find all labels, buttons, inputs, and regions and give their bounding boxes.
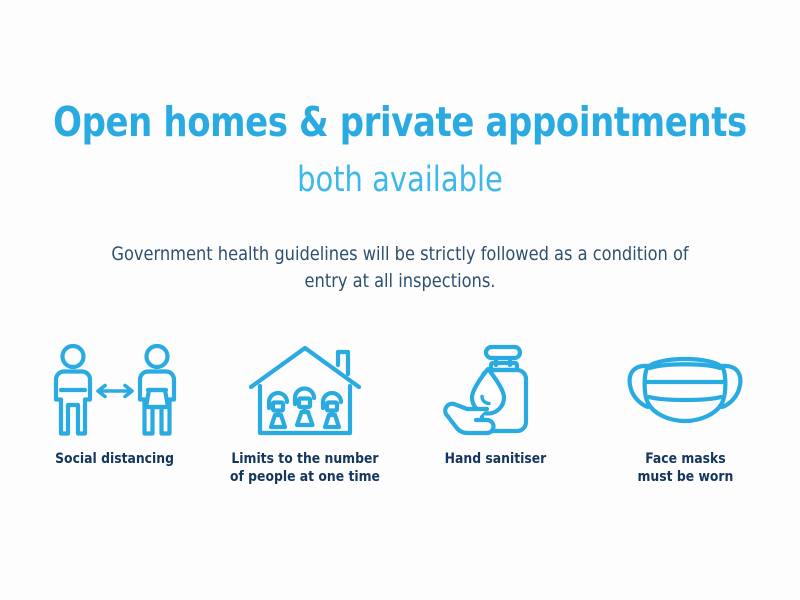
guideline-caption: Social distancing: [56, 450, 175, 468]
covid-safety-poster: Open homes & private appointments both a…: [0, 0, 800, 600]
guideline-caption: Hand sanitiser: [444, 450, 546, 468]
page-subtitle: both available: [32, 163, 768, 198]
headline-block: Open homes & private appointments both a…: [0, 102, 800, 198]
guideline-icon-row: Social distancing: [20, 341, 780, 487]
guideline-caption: Limits to the number of people at one ti…: [230, 450, 380, 487]
hand-sanitiser-icon: [440, 343, 550, 439]
house-occupancy-limit-icon: [246, 343, 364, 439]
page-title: Open homes & private appointments: [32, 102, 768, 144]
icon-art-wrapper: [246, 341, 364, 439]
guideline-item-hand-sanitiser: Hand sanitiser: [400, 341, 590, 468]
guideline-item-social-distancing: Social distancing: [20, 341, 210, 468]
face-mask-icon: [624, 343, 746, 439]
social-distancing-icon: [47, 343, 183, 439]
icon-art-wrapper: [47, 341, 183, 439]
icon-art-wrapper: [440, 341, 550, 439]
body-copy: Government health guidelines will be str…: [96, 241, 704, 295]
icon-art-wrapper: [624, 341, 746, 439]
guideline-caption: Face masks must be worn: [637, 450, 733, 487]
guideline-item-face-mask: Face masks must be worn: [590, 341, 780, 487]
guideline-item-occupancy-limit: Limits to the number of people at one ti…: [210, 341, 400, 487]
